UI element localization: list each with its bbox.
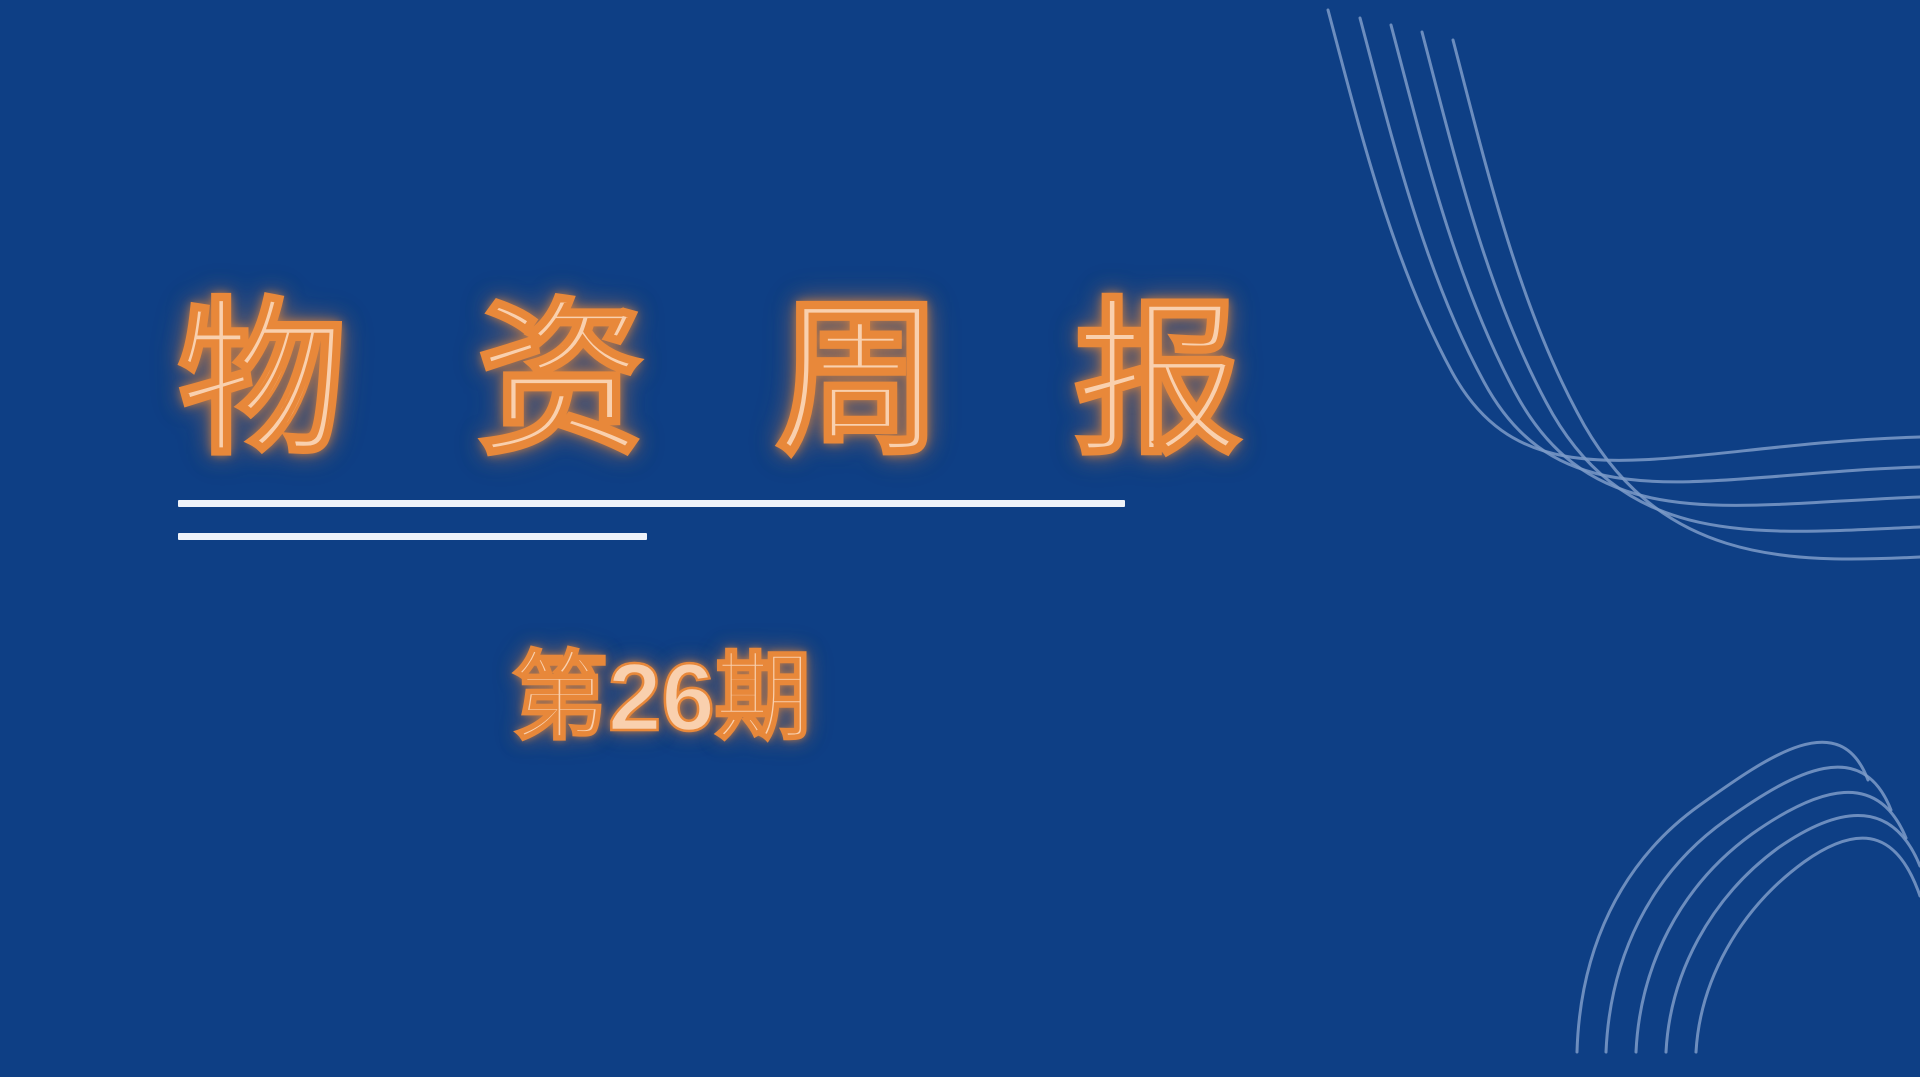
page-title: 物 资 周 报 xyxy=(178,290,1178,471)
title-underline-short xyxy=(178,533,647,540)
title-underline-long xyxy=(178,500,1125,507)
title-slide: 物 资 周 报 第26期 xyxy=(0,0,1920,1077)
title-block: 物 资 周 报 xyxy=(178,290,1178,471)
issue-number-label: 第26期 xyxy=(512,645,811,751)
